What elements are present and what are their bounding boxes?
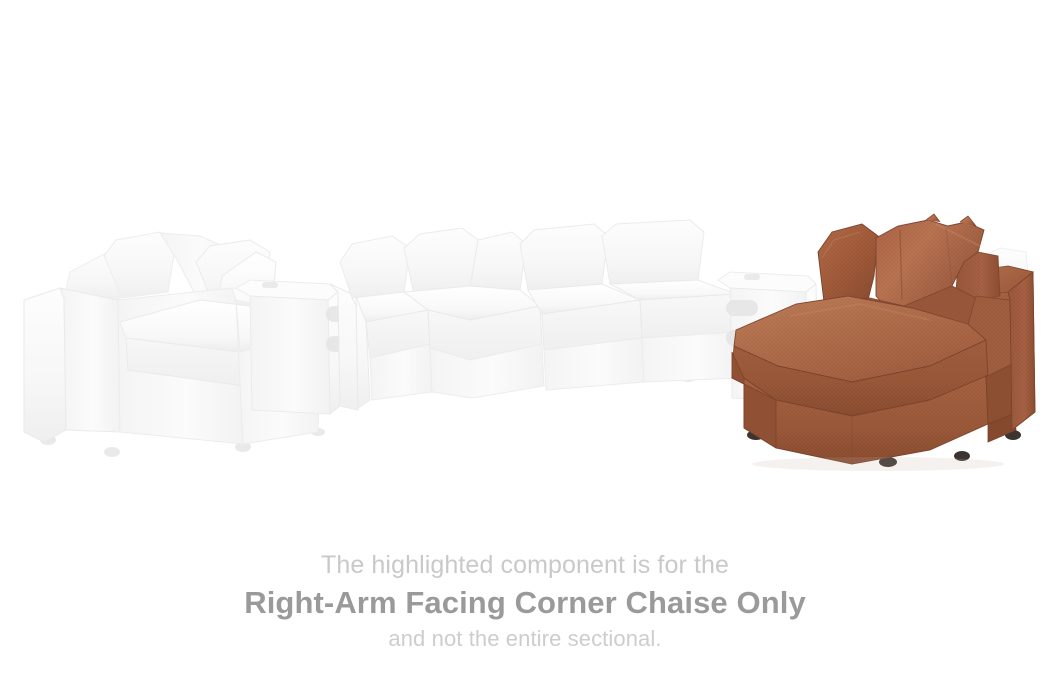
ghost-console-left [236,280,358,414]
caption-line-1: The highlighted component is for the [0,548,1050,582]
caption-line-3: and not the entire sectional. [0,624,1050,654]
caption-block: The highlighted component is for the Rig… [0,548,1050,654]
chaise-ground-shadow [752,457,1004,471]
caption-line-2: Right-Arm Facing Corner Chaise Only [0,582,1050,624]
